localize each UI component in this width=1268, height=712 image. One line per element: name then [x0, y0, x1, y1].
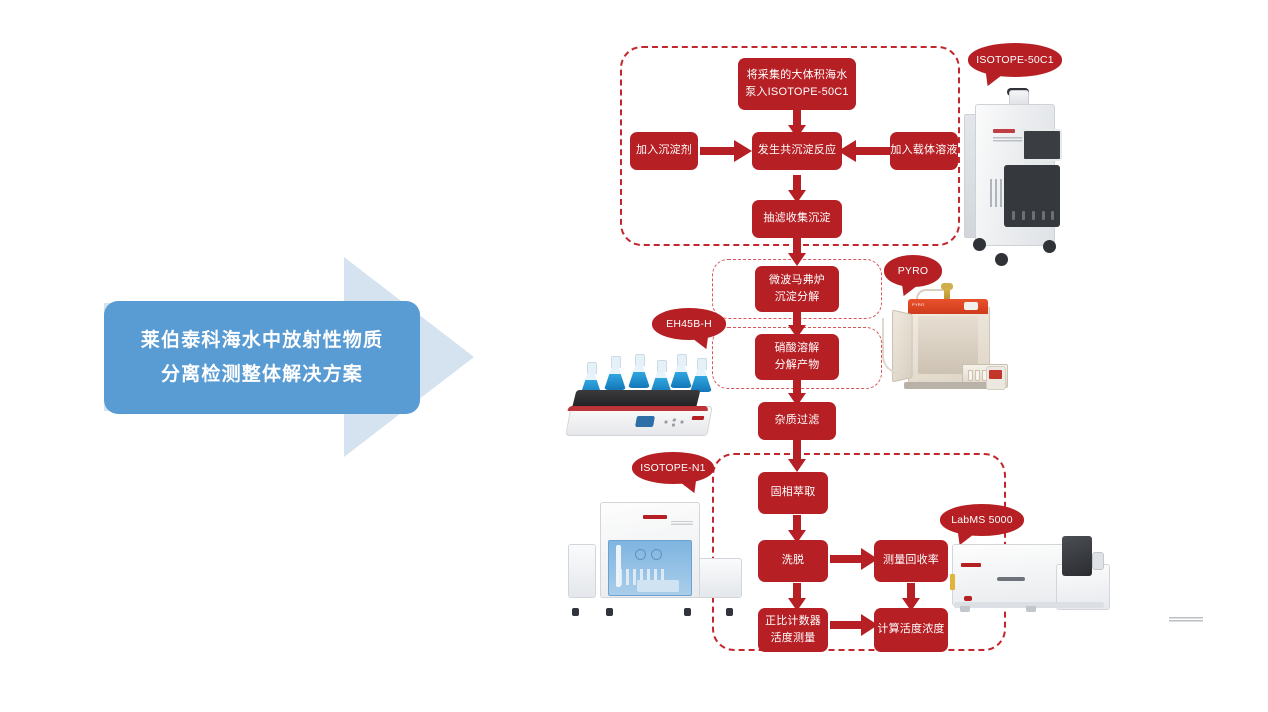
- solution-banner: 莱伯泰科海水中放射性物质 分离检测整体解决方案: [104, 301, 420, 414]
- furnace-cable-icon: [882, 318, 904, 374]
- callout-tail-icon: [983, 71, 1003, 88]
- flow-box-line-1: 固相萃取: [771, 484, 816, 501]
- flow-box-line-1: 加入沉淀剂: [636, 142, 692, 159]
- arrow-counter-to-calculate: [830, 614, 878, 636]
- flow-box-add-carrier-solution[interactable]: 加入载体溶液: [890, 132, 958, 170]
- callout-label: ISOTOPE-50C1: [976, 54, 1053, 66]
- arrow-extraction-to-elution: [787, 515, 807, 543]
- brand-logo-icon: [961, 563, 981, 567]
- model-text-icon: [993, 137, 1023, 143]
- furnace-hood-button: [964, 302, 978, 310]
- erlenmeyer-flask-icon: [604, 356, 626, 390]
- flow-box-line-1: 微波马弗炉: [769, 272, 825, 289]
- labms-5000-photo: [952, 534, 1108, 620]
- furnace-controller: [986, 366, 1006, 390]
- furnace-hood-label: PYRO: [912, 302, 925, 307]
- callout-labms-5000[interactable]: LabMS 5000: [940, 504, 1024, 536]
- control-screen: [1022, 129, 1062, 161]
- power-button-icon: [964, 596, 972, 601]
- nebulizer-icon: [1092, 552, 1104, 570]
- flow-box-microwave-muffle[interactable]: 微波马弗炉 沉淀分解: [755, 266, 839, 312]
- flow-box-measure-recovery[interactable]: 测量回收率: [874, 540, 948, 582]
- right-module: [696, 558, 742, 598]
- flow-box-nitric-dissolve[interactable]: 硝酸溶解 分解产物: [755, 334, 839, 380]
- flow-box-line-1: 将采集的大体积海水: [747, 67, 848, 84]
- sample-panel: [1004, 165, 1060, 227]
- hotplate-control-knobs: [661, 417, 687, 427]
- arrow-recovery-to-calculate: [901, 583, 921, 611]
- arrow-collect-to-microwave: [787, 236, 807, 266]
- flow-box-line-1: 发生共沉淀反应: [758, 142, 836, 159]
- banner-line-1: 莱伯泰科海水中放射性物质: [141, 324, 383, 357]
- illuminated-chamber: [608, 540, 692, 596]
- flow-box-line-1: 计算活度浓度: [877, 621, 944, 638]
- torch-tower: [1062, 536, 1092, 576]
- isotope-n1-photo: [566, 498, 742, 616]
- model-text-icon: [1169, 617, 1203, 622]
- arrow-reaction-to-collect: [787, 175, 807, 203]
- foot-icon: [1026, 606, 1036, 612]
- callout-label: LabMS 5000: [951, 514, 1013, 526]
- flow-box-line-1: 测量回收率: [883, 552, 939, 569]
- arrow-filtration-to-extraction: [787, 440, 807, 472]
- flow-box-solid-phase-extraction[interactable]: 固相萃取: [758, 472, 828, 514]
- banner-line-2: 分离检测整体解决方案: [161, 358, 363, 391]
- flow-box-line-2: 分解产物: [775, 357, 820, 374]
- caster-wheel-icon: [684, 608, 691, 616]
- isotope-50c1-photo: [963, 88, 1075, 268]
- flow-box-impurity-filtration[interactable]: 杂质过滤: [758, 402, 836, 440]
- valve-wheel-icon: [651, 549, 662, 560]
- eh45b-h-photo: [562, 332, 720, 444]
- caster-wheel-icon: [606, 608, 613, 616]
- arrow-carrier-to-reaction: [838, 140, 890, 162]
- caster-wheel-icon: [995, 253, 1008, 266]
- brand-logo-icon: [692, 416, 705, 420]
- callout-label: PYRO: [898, 265, 929, 277]
- model-text-icon: [671, 521, 693, 526]
- valve-wheel-icon: [635, 549, 646, 560]
- flow-box-line-1: 洗脱: [782, 552, 804, 569]
- caster-wheel-icon: [973, 238, 986, 251]
- erlenmeyer-flask-icon: [690, 358, 712, 392]
- hotplate-accent-stripe: [568, 406, 709, 411]
- erlenmeyer-flask-icon: [670, 354, 692, 388]
- flow-box-line-2: 活度测量: [771, 630, 816, 647]
- brand-logo-icon: [643, 515, 667, 519]
- furnace-hood: PYRO: [908, 299, 988, 314]
- furnace-cavity: [918, 316, 978, 374]
- callout-tail-icon: [680, 478, 700, 495]
- flow-box-line-2: 沉淀分解: [775, 289, 820, 306]
- callout-pyro[interactable]: PYRO: [884, 255, 942, 287]
- caster-wheel-icon: [1043, 240, 1056, 253]
- collection-tub-icon: [637, 580, 679, 592]
- flow-box-elution[interactable]: 洗脱: [758, 540, 828, 582]
- flow-box-calculate-activity[interactable]: 计算活度浓度: [874, 608, 948, 652]
- lid-handle: [997, 577, 1025, 581]
- arrow-precipitant-to-reaction: [700, 140, 752, 162]
- caster-wheel-icon: [726, 608, 733, 616]
- pyro-photo: PYRO: [882, 292, 1004, 404]
- hotplate-display: [635, 416, 655, 427]
- indicator-strip: [950, 574, 955, 590]
- callout-label: EH45B-H: [666, 318, 712, 330]
- cabinet-body: [975, 104, 1055, 246]
- flow-box-coprecipitation-reaction[interactable]: 发生共沉淀反应: [752, 132, 842, 170]
- arrow-elution-to-recovery: [830, 548, 878, 570]
- callout-isotope-n1[interactable]: ISOTOPE-N1: [632, 452, 714, 484]
- callout-isotope-50c1[interactable]: ISOTOPE-50C1: [968, 43, 1062, 77]
- flow-box-line-1: 硝酸溶解: [775, 340, 820, 357]
- furnace-base: [904, 382, 992, 389]
- flow-box-add-precipitant[interactable]: 加入沉淀剂: [630, 132, 698, 170]
- flow-box-line-1: 杂质过滤: [775, 412, 820, 429]
- flow-box-line-1: 加入载体溶液: [890, 142, 957, 159]
- left-module: [568, 544, 596, 598]
- brand-logo-icon: [993, 129, 1015, 133]
- erlenmeyer-flask-icon: [650, 360, 672, 394]
- foot-icon: [960, 606, 970, 612]
- flow-box-pump-seawater[interactable]: 将采集的大体积海水 泵入ISOTOPE-50C1: [738, 58, 856, 110]
- flow-box-proportional-counter[interactable]: 正比计数器 活度测量: [758, 608, 828, 652]
- caster-wheel-icon: [572, 608, 579, 616]
- flow-box-filter-collect-precipitate[interactable]: 抽滤收集沉淀: [752, 200, 842, 238]
- slide-canvas: 莱伯泰科海水中放射性物质 分离检测整体解决方案: [0, 0, 1268, 712]
- flow-box-line-2: 泵入ISOTOPE-50C1: [745, 84, 848, 101]
- arrow-elution-to-counter: [787, 583, 807, 611]
- flow-box-line-1: 正比计数器: [765, 613, 821, 630]
- erlenmeyer-flask-icon: [628, 354, 650, 388]
- flow-box-line-1: 抽滤收集沉淀: [763, 210, 830, 227]
- callout-label: ISOTOPE-N1: [640, 462, 705, 474]
